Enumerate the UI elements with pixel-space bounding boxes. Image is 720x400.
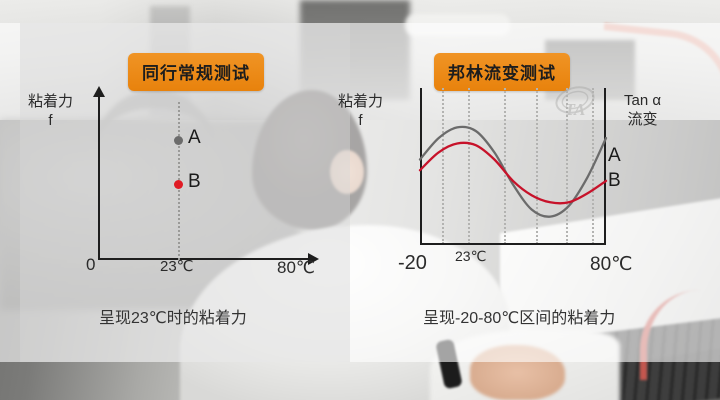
left-caption: 呈现23℃时的粘着力 bbox=[99, 304, 247, 328]
right-caption: 呈现-20-80℃区间的粘着力 bbox=[423, 304, 615, 328]
data-point-b-label: B bbox=[188, 171, 201, 193]
data-point-a-label: A bbox=[188, 127, 201, 149]
curve-a-label: A bbox=[608, 145, 621, 167]
screenshot-stage: 同行常规测试 粘着力 f A B 0 23℃ 80℃ 呈现23℃时的粘着力 邦林… bbox=[0, 0, 720, 400]
chart-peer-standard-test: A B bbox=[60, 88, 320, 268]
left-x-tick-80c: 80℃ bbox=[277, 258, 315, 278]
data-point-b bbox=[174, 180, 183, 189]
right-y-axis-left-label: 粘着力 f bbox=[338, 93, 383, 131]
badge-peer-standard-test: 同行常规测试 bbox=[128, 53, 264, 91]
right-x-tick-80c: 80℃ bbox=[590, 253, 632, 276]
left-x-tick-23c: 23℃ bbox=[160, 257, 194, 275]
right-x-tick-23c: 23℃ bbox=[455, 248, 486, 265]
right-curve-plot bbox=[406, 88, 676, 268]
right-y-axis-left-label-text: 粘着力 bbox=[338, 93, 383, 110]
badge-banglin-rheology-test: 邦林流变测试 bbox=[434, 53, 570, 91]
chart-banglin-rheology-test: TA A B bbox=[406, 88, 676, 268]
left-x-tick-0: 0 bbox=[86, 255, 95, 275]
right-y-axis-left-symbol: f bbox=[338, 112, 383, 131]
left-y-axis-line bbox=[98, 94, 100, 260]
right-x-tick-minus20: -20 bbox=[398, 252, 427, 275]
curve-b-label: B bbox=[608, 170, 621, 192]
data-point-a bbox=[174, 136, 183, 145]
curve-series-a bbox=[420, 127, 606, 217]
